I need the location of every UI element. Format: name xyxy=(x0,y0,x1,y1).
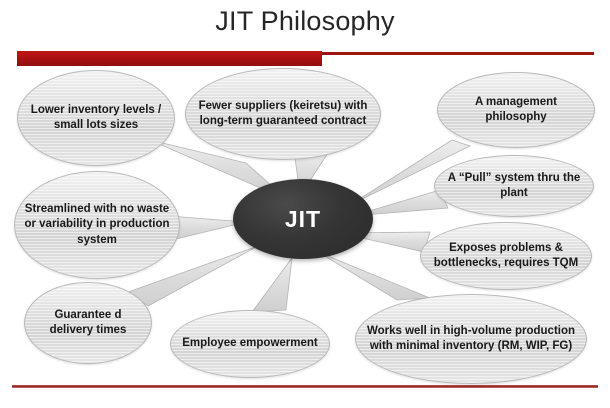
node-works-well[interactable]: Works well in high-volume production wit… xyxy=(355,294,587,384)
node-management-philosophy[interactable]: A management philosophy xyxy=(437,72,595,148)
node-label: Lower inventory levels / small lots size… xyxy=(27,103,165,134)
node-label: A “Pull” system thru the plant xyxy=(444,171,584,202)
node-lower-inventory[interactable]: Lower inventory levels / small lots size… xyxy=(17,70,175,166)
node-label: Employee empowerment xyxy=(180,336,320,351)
node-pull-system[interactable]: A “Pull” system thru the plant xyxy=(434,155,594,217)
node-employee-empowerment[interactable]: Employee empowerment xyxy=(170,310,330,378)
node-label: Streamlined with no waste or variability… xyxy=(24,202,170,248)
tail-works-well xyxy=(318,252,430,300)
center-hub-jit[interactable]: JIT xyxy=(233,179,373,259)
jit-philosophy-slide: JIT Philosophy Lower inventory lev xyxy=(0,0,610,408)
node-label: Fewer suppliers (keiretsu) with long-ter… xyxy=(195,99,371,130)
node-label: A management philosophy xyxy=(447,95,585,126)
node-guaranteed-delivery[interactable]: Guarantee d delivery times xyxy=(24,282,152,364)
node-label: Exposes problems & bottlenecks, requires… xyxy=(430,241,582,272)
node-label: Guarantee d delivery times xyxy=(34,308,142,339)
node-streamlined[interactable]: Streamlined with no waste or variability… xyxy=(14,171,180,279)
node-fewer-suppliers[interactable]: Fewer suppliers (keiretsu) with long-ter… xyxy=(185,68,381,160)
tail-employee-empowerment xyxy=(252,258,292,312)
node-label: Works well in high-volume production wit… xyxy=(365,324,577,355)
node-exposes-problems[interactable]: Exposes problems & bottlenecks, requires… xyxy=(420,222,592,290)
hub-label: JIT xyxy=(285,206,321,233)
